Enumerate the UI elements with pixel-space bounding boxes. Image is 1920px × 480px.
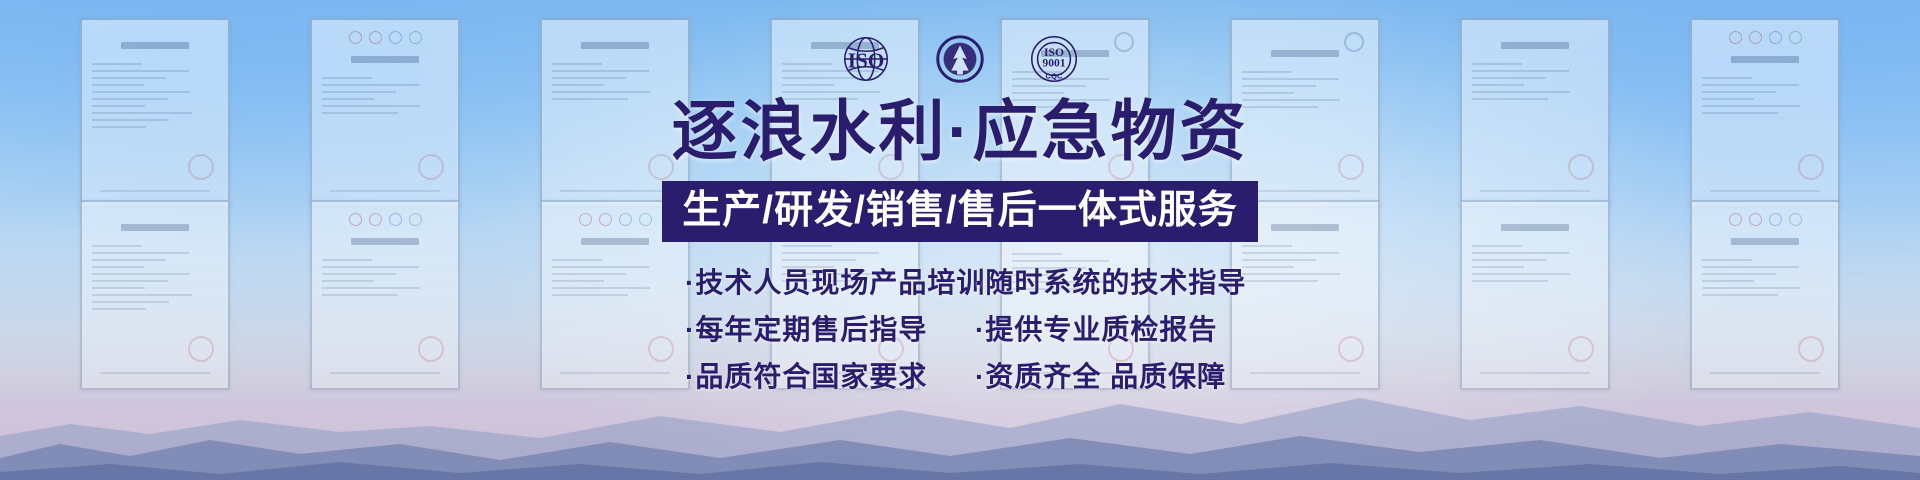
services-bar: 生产/研发/销售/售后一体式服务 — [662, 181, 1258, 242]
feature-item: ·提供专业质检报告 — [975, 316, 1235, 344]
feature-list: ·技术人员现场产品培训·随时系统的技术指导·每年定期售后指导·提供专业质检报告·… — [685, 269, 1235, 391]
feature-row: ·品质符合国家要求·资质齐全 品质保障 — [685, 363, 1235, 391]
banner-content: 逐浪水利·应急物资 生产/研发/销售/售后一体式服务 ·技术人员现场产品培训·随… — [0, 0, 1920, 480]
feature-row: ·每年定期售后指导·提供专业质检报告 — [685, 316, 1235, 344]
feature-item: ·每年定期售后指导 — [685, 316, 975, 344]
feature-item: ·随时系统的技术指导 — [975, 269, 1235, 297]
promotional-banner: ISO ISO 9001 CQC 逐浪水利·应急物资 生产/研发/销售/售后 — [0, 0, 1920, 480]
feature-item: ·品质符合国家要求 — [685, 363, 975, 391]
feature-item: ·资质齐全 品质保障 — [975, 363, 1235, 391]
feature-row: ·技术人员现场产品培训·随时系统的技术指导 — [685, 269, 1235, 297]
feature-item: ·技术人员现场产品培训 — [685, 269, 975, 297]
page-title: 逐浪水利·应急物资 — [672, 98, 1249, 164]
